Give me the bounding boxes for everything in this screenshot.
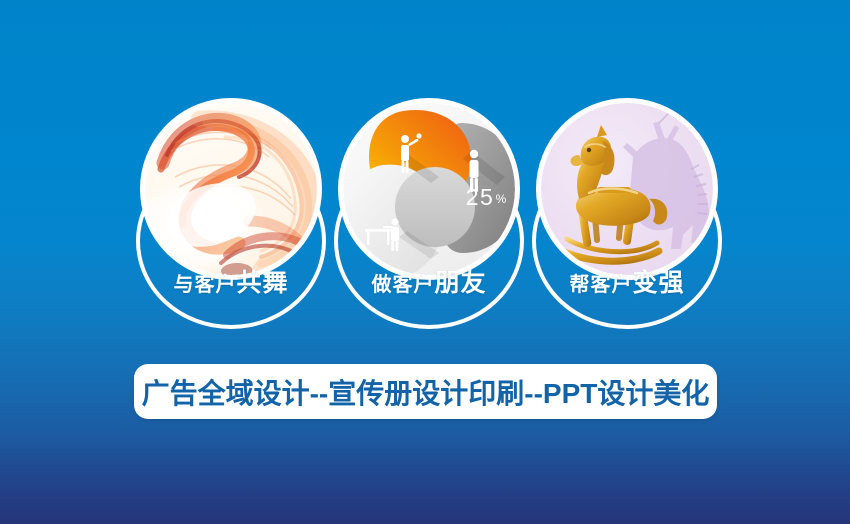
cards-row: 与客户共舞 [0, 0, 850, 340]
rocking-horse-artwork [541, 103, 713, 275]
percent-label-text: 25 [466, 184, 495, 210]
poster-canvas: 与客户共舞 [0, 0, 850, 524]
infographic-svg: 25 % [343, 103, 515, 275]
card-dance[interactable]: 与客户共舞 [133, 98, 329, 330]
card-stronger[interactable]: 帮客户变强 [529, 98, 725, 330]
caption-emphasis: 共舞 [236, 269, 288, 297]
card-caption-friend: 做客户朋友 [331, 263, 527, 299]
rocking-horse-svg [541, 103, 713, 275]
card-caption-dance: 与客户共舞 [133, 263, 329, 299]
caption-prefix: 做客户 [371, 274, 434, 296]
photo-disc-stronger [536, 98, 718, 280]
service-banner-text: 广告全域设计--宣传册设计印刷--PPT设计美化 [142, 372, 710, 412]
caption-prefix: 帮客户 [569, 274, 632, 296]
smoke-ribbons-svg [145, 103, 317, 275]
photo-disc-dance [140, 98, 322, 280]
smoke-ribbons-artwork [145, 103, 317, 275]
card-friend[interactable]: 25 % 做客户朋友 [331, 98, 527, 330]
card-caption-stronger: 帮客户变强 [529, 263, 725, 299]
caption-emphasis: 变强 [632, 269, 684, 297]
service-banner[interactable]: 广告全域设计--宣传册设计印刷--PPT设计美化 [134, 364, 717, 419]
caption-emphasis: 朋友 [434, 269, 486, 297]
caption-prefix: 与客户 [173, 274, 236, 296]
photo-disc-friend: 25 % [338, 98, 520, 280]
infographic-artwork: 25 % [343, 103, 515, 275]
percent-sign-text: % [496, 192, 507, 206]
